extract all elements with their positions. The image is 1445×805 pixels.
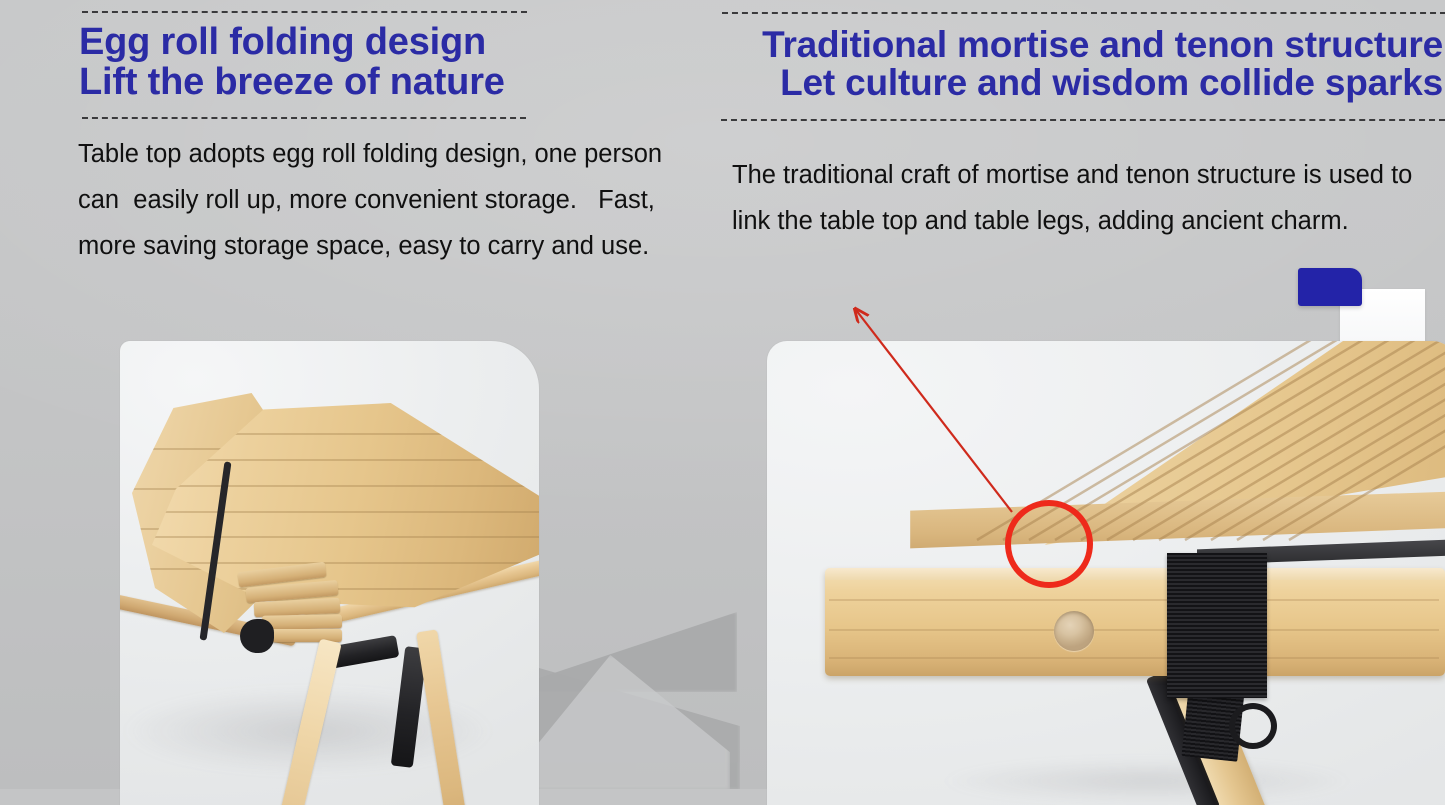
right-heading-line-2: Let culture and wisdom collide sparks	[762, 64, 1443, 102]
left-heading: Egg roll folding design Lift the breeze …	[79, 23, 505, 102]
left-body-text: Table top adopts egg roll folding design…	[78, 131, 678, 269]
right-photo-scene	[767, 341, 1445, 805]
right-body-text: The traditional craft of mortise and ten…	[732, 152, 1432, 244]
left-heading-rule-bottom	[82, 117, 526, 119]
rail-grain-2	[829, 629, 1439, 631]
bamboo-cross-rail	[825, 568, 1445, 676]
right-heading-rule-bottom	[721, 119, 1445, 121]
floor-shadow	[887, 751, 1407, 805]
left-feature-panel: Egg roll folding design Lift the breeze …	[0, 0, 700, 789]
table-top-slat-lines	[827, 341, 1445, 565]
left-photo-scene	[120, 341, 539, 805]
mortise-tenon-dowel-peg	[1054, 611, 1094, 651]
strap-buckle-ring	[1229, 703, 1277, 749]
left-product-photo	[120, 341, 539, 805]
left-heading-line-1: Egg roll folding design	[79, 23, 505, 63]
left-heading-rule-top	[82, 11, 527, 13]
left-heading-line-2: Lift the breeze of nature	[79, 63, 505, 103]
rail-grain-3	[829, 657, 1439, 659]
decorative-blue-tag	[1298, 268, 1362, 306]
right-product-photo	[767, 341, 1445, 805]
black-webbing-strap	[1167, 553, 1267, 698]
rail-top-bevel	[825, 568, 1445, 580]
right-heading-line-1: Traditional mortise and tenon structure	[762, 26, 1443, 64]
rail-grain-1	[829, 599, 1439, 601]
slat-end-4	[262, 614, 342, 629]
right-heading-rule-top	[722, 12, 1445, 14]
right-heading: Traditional mortise and tenon structure …	[762, 26, 1443, 103]
metal-hinge-knob	[240, 619, 274, 653]
